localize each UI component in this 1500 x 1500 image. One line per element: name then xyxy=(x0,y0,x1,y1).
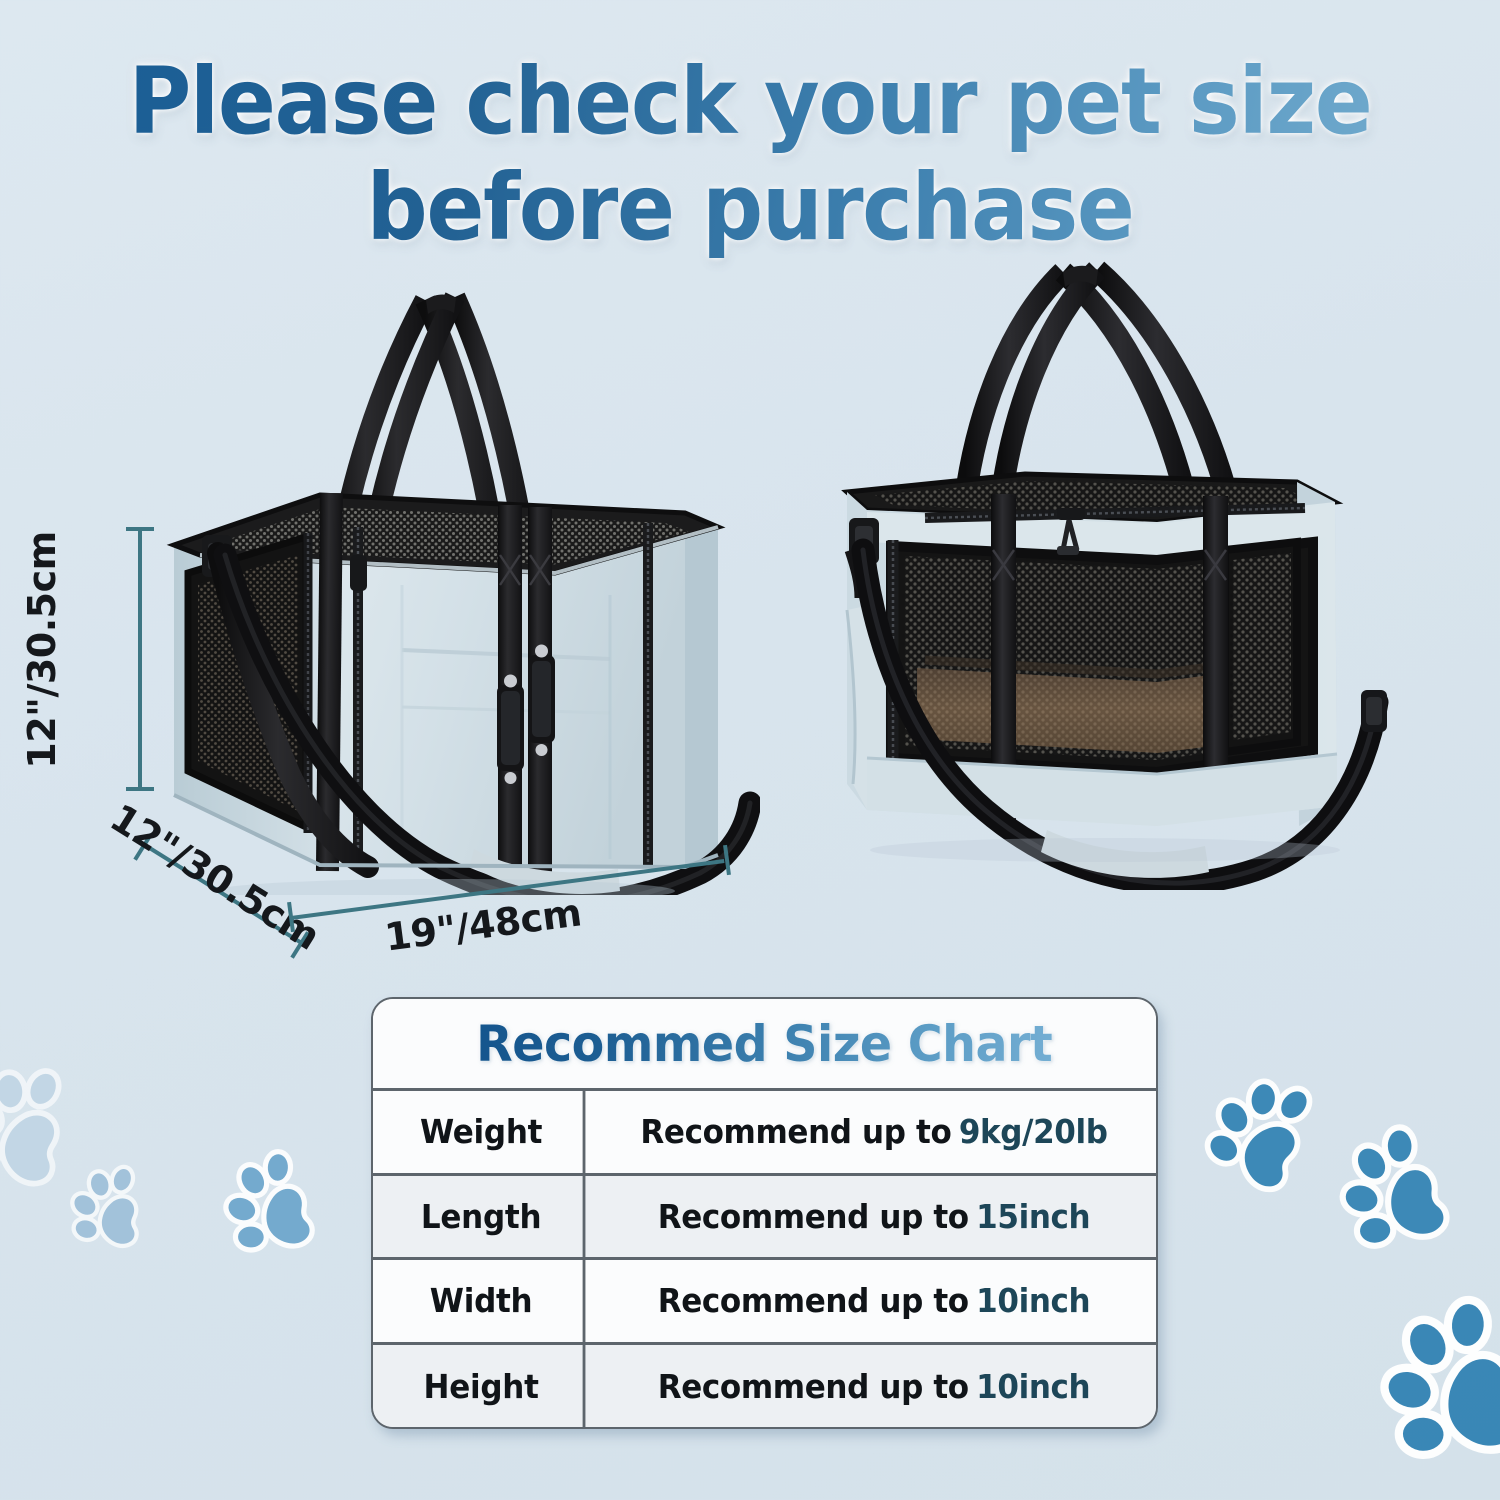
size-chart-row-label: Weight xyxy=(380,1091,586,1173)
product-image-carrier-angled xyxy=(140,255,760,895)
size-chart-row-highlight: 9kg/20lb xyxy=(959,1112,1108,1151)
page-title: Please check your pet size before purcha… xyxy=(0,56,1500,266)
size-chart-title-row: Recommed Size Chart xyxy=(373,999,1156,1091)
size-chart-title: Recommed Size Chart xyxy=(476,1015,1052,1073)
product-image-carrier-front xyxy=(805,250,1425,890)
size-chart-row-label: Width xyxy=(380,1260,586,1342)
paw-print-decoration xyxy=(73,1165,151,1257)
paw-print-decoration xyxy=(1345,1128,1457,1260)
paw-print-decoration xyxy=(1213,1076,1318,1200)
size-chart-row-prefix: Recommend up to xyxy=(658,1197,969,1236)
size-chart-row-prefix: Recommend up to xyxy=(640,1112,951,1151)
size-chart-row-highlight: 15inch xyxy=(976,1197,1090,1236)
page-title-line-1: Please check your pet size xyxy=(53,56,1448,160)
size-chart-row-value: Recommend up to 10inch xyxy=(609,1345,1139,1430)
table-row: Length Recommend up to 15inch xyxy=(373,1176,1156,1261)
size-chart-row-value: Recommend up to 9kg/20lb xyxy=(609,1091,1139,1173)
table-row: Weight Recommend up to 9kg/20lb xyxy=(373,1091,1156,1176)
table-row: Height Recommend up to 10inch xyxy=(373,1345,1156,1430)
size-chart-row-label: Height xyxy=(380,1345,586,1430)
size-chart-row-label: Length xyxy=(380,1176,586,1258)
size-chart-row-prefix: Recommend up to xyxy=(658,1367,969,1406)
paw-print-decoration xyxy=(1388,1300,1500,1478)
size-chart-row-value: Recommend up to 15inch xyxy=(609,1176,1139,1258)
size-chart-row-value: Recommend up to 10inch xyxy=(609,1260,1139,1342)
size-chart-row-prefix: Recommend up to xyxy=(658,1281,969,1320)
dimension-height-label: 12"/30.5cm xyxy=(20,531,64,768)
size-chart-row-highlight: 10inch xyxy=(976,1367,1090,1406)
paw-print-decoration xyxy=(228,1152,323,1264)
paw-print-decoration xyxy=(0,1063,76,1193)
table-row: Width Recommend up to 10inch xyxy=(373,1260,1156,1345)
size-chart-card: Recommed Size Chart Weight Recommend up … xyxy=(371,997,1158,1429)
size-chart-row-highlight: 10inch xyxy=(976,1281,1090,1320)
